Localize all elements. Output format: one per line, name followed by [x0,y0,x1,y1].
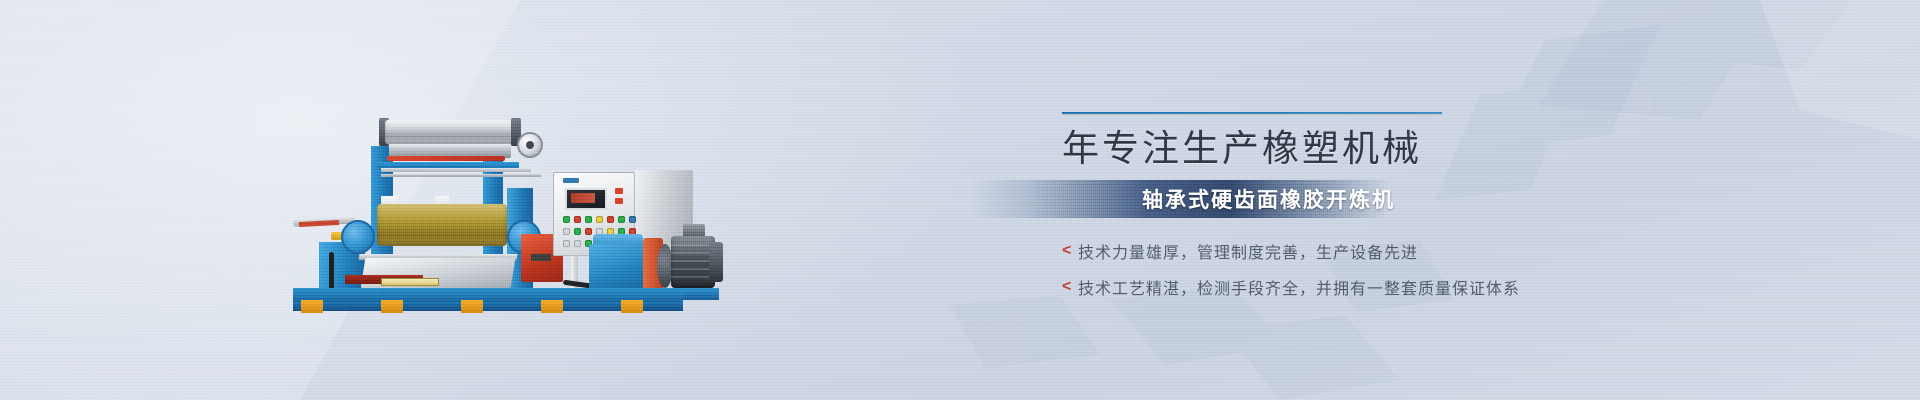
list-item: < 技术工艺精湛，检测手段齐全，并拥有一整套质量保证体系 [1062,275,1622,299]
panel-button-row-1 [563,216,636,223]
promo-banner: 年专注生产橡塑机械 轴承式硬齿面橡胶开炼机 < 技术力量雄厚，管理制度完善，生产… [0,0,1920,400]
headline: 年专注生产橡塑机械 [1062,130,1622,167]
banner-copy: 年专注生产橡塑机械 轴承式硬齿面橡胶开炼机 < 技术力量雄厚，管理制度完善，生产… [1062,112,1622,311]
chevron-left-icon: < [1062,242,1078,260]
base-foot [541,300,563,313]
machine-nameplate [381,278,439,286]
panel-display-readout [571,193,595,203]
base-foot [621,300,643,313]
panel-indicator-1 [615,188,623,194]
list-item-label: 技术工艺精湛，检测手段齐全，并拥有一整套质量保证体系 [1078,275,1520,299]
roll-bearing-left [341,220,375,254]
base-foot [301,300,323,313]
red-box-label [531,254,551,261]
base-foot [381,300,403,313]
top-blender-roll [385,120,515,144]
tie-rod-lower [381,174,541,177]
tie-rod-upper [381,168,531,172]
headline-rule-secondary [1062,114,1442,115]
adjust-lever-red [299,220,339,227]
headline-rule [1062,112,1442,116]
chevron-left-icon: < [1062,278,1078,296]
motor-fan-cover [709,242,723,282]
feature-list: < 技术力量雄厚，管理制度完善，生产设备先进 < 技术工艺精湛，检测手段齐全，并… [1062,239,1622,299]
list-item-label: 技术力量雄厚，管理制度完善，生产设备先进 [1078,239,1418,263]
pulley-hub [526,141,534,149]
main-brass-roll [377,204,507,246]
subtitle-bar: 轴承式硬齿面橡胶开炼机 [970,180,1390,218]
red-cross-bar [387,156,505,161]
panel-indicator-2 [615,198,623,204]
subtitle-text: 轴承式硬齿面橡胶开炼机 [1142,184,1395,214]
panel-brand-logo [563,178,579,183]
list-item: < 技术力量雄厚，管理制度完善，生产设备先进 [1062,239,1622,263]
base-foot [461,300,483,313]
product-image [285,92,715,324]
